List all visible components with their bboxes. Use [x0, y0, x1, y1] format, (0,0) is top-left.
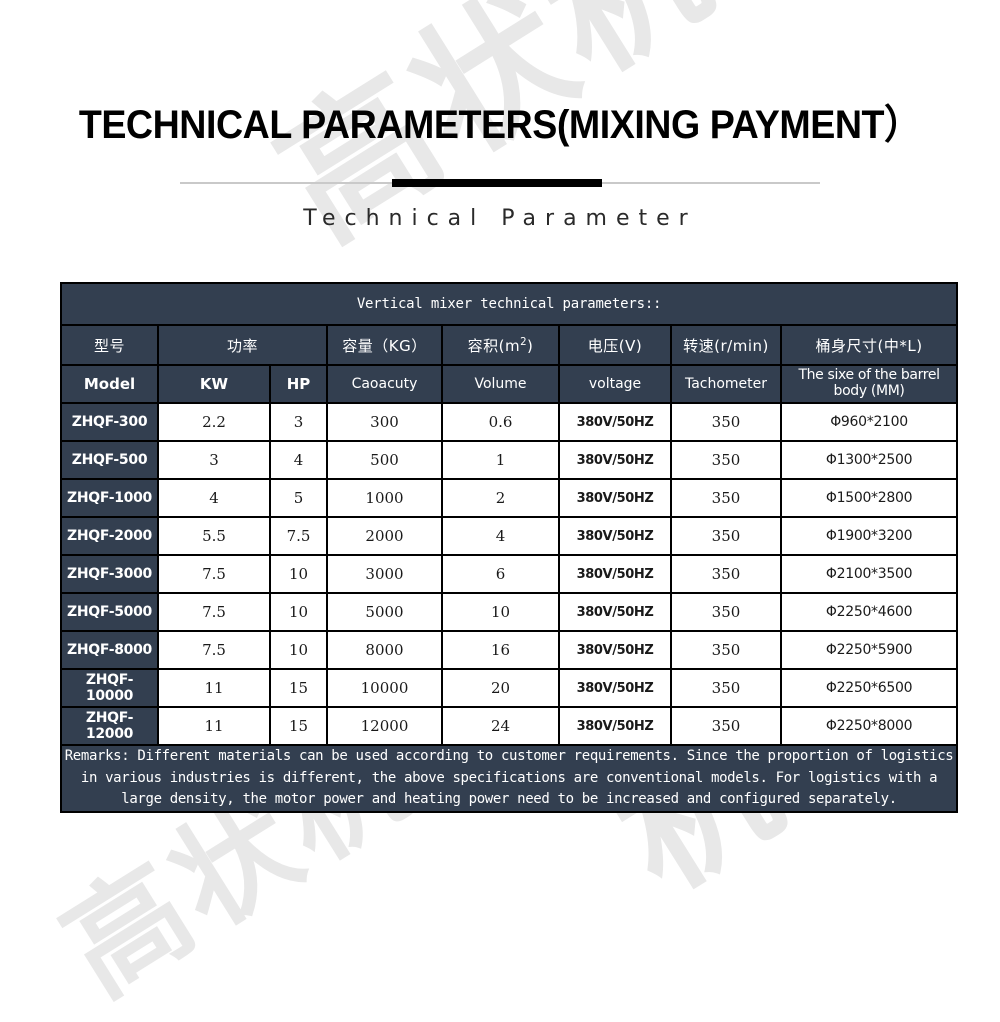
cell-tachometer: 350	[672, 404, 780, 440]
cell-capacity: 10000	[328, 670, 441, 706]
cell-model: ZHQF-5000	[62, 594, 157, 630]
col-header-model-cn: 型号	[62, 326, 157, 364]
cell-hp: 7.5	[271, 518, 326, 554]
cell-kw: 2.2	[159, 404, 269, 440]
table-caption-row: Vertical mixer technical parameters::	[62, 284, 956, 324]
cell-size: Φ2250*8000	[782, 708, 956, 744]
header-row-cn: 型号 功率 容量（KG） 容积(m2) 电压(V) 转速(r/min) 桶身尺寸…	[62, 326, 956, 364]
cell-volume: 24	[443, 708, 558, 744]
cell-tachometer: 350	[672, 442, 780, 478]
cell-hp: 15	[271, 708, 326, 744]
table-row: ZHQF-2000 5.5 7.5 2000 4 380V/50HZ 350 Φ…	[62, 518, 956, 554]
cell-tachometer: 350	[672, 708, 780, 744]
cell-size: Φ2250*6500	[782, 670, 956, 706]
cell-kw: 7.5	[159, 632, 269, 668]
col-header-capacity-en: Caoacuty	[328, 366, 441, 402]
col-header-tachometer-en: Tachometer	[672, 366, 780, 402]
table-remarks: Remarks: Different materials can be used…	[62, 746, 956, 811]
cell-voltage: 380V/50HZ	[560, 556, 670, 592]
table-row: ZHQF-5000 7.5 10 5000 10 380V/50HZ 350 Φ…	[62, 594, 956, 630]
cell-kw: 3	[159, 442, 269, 478]
table-row: ZHQF-3000 7.5 10 3000 6 380V/50HZ 350 Φ2…	[62, 556, 956, 592]
title-divider	[180, 178, 820, 188]
col-header-volume-cn: 容积(m2)	[443, 326, 558, 364]
cell-size: Φ1300*2500	[782, 442, 956, 478]
cell-kw: 5.5	[159, 518, 269, 554]
cell-hp: 3	[271, 404, 326, 440]
cell-volume: 4	[443, 518, 558, 554]
cell-size: Φ960*2100	[782, 404, 956, 440]
cell-capacity: 1000	[328, 480, 441, 516]
title-block: TECHNICAL PARAMETERS(MIXING PAYMENT） Tec…	[0, 0, 1000, 231]
cell-volume: 1	[443, 442, 558, 478]
cell-tachometer: 350	[672, 518, 780, 554]
cell-voltage: 380V/50HZ	[560, 708, 670, 744]
cell-model: ZHQF-10000	[62, 670, 157, 706]
cell-kw: 11	[159, 670, 269, 706]
cell-volume: 0.6	[443, 404, 558, 440]
cell-capacity: 8000	[328, 632, 441, 668]
page-title: TECHNICAL PARAMETERS(MIXING PAYMENT）	[30, 92, 970, 150]
cell-model: ZHQF-2000	[62, 518, 157, 554]
col-header-power-cn: 功率	[159, 326, 326, 364]
cell-size: Φ2100*3500	[782, 556, 956, 592]
cell-tachometer: 350	[672, 632, 780, 668]
col-header-voltage-cn: 电压(V)	[560, 326, 670, 364]
cell-size: Φ2250*5900	[782, 632, 956, 668]
cell-volume: 16	[443, 632, 558, 668]
divider-accent-bar	[392, 179, 602, 187]
cell-capacity: 5000	[328, 594, 441, 630]
cell-capacity: 300	[328, 404, 441, 440]
cell-kw: 11	[159, 708, 269, 744]
col-header-volume-en: Volume	[443, 366, 558, 402]
cell-volume: 20	[443, 670, 558, 706]
col-header-voltage-en: voltage	[560, 366, 670, 402]
cell-voltage: 380V/50HZ	[560, 404, 670, 440]
col-header-capacity-cn: 容量（KG）	[328, 326, 441, 364]
table-row: ZHQF-8000 7.5 10 8000 16 380V/50HZ 350 Φ…	[62, 632, 956, 668]
cell-capacity: 500	[328, 442, 441, 478]
cell-model: ZHQF-3000	[62, 556, 157, 592]
col-header-model-en: Model	[62, 366, 157, 402]
volume-unit-superscript: 2	[520, 337, 527, 348]
col-header-kw-en: KW	[159, 366, 269, 402]
cell-model: ZHQF-500	[62, 442, 157, 478]
cell-hp: 10	[271, 632, 326, 668]
cell-size: Φ1500*2800	[782, 480, 956, 516]
cell-model: ZHQF-12000	[62, 708, 157, 744]
table-caption: Vertical mixer technical parameters::	[62, 284, 956, 324]
volume-label-close: )	[527, 337, 533, 355]
col-header-size-en: The sixe of the barrel body (MM)	[782, 366, 956, 402]
table-row: ZHQF-10000 11 15 10000 20 380V/50HZ 350 …	[62, 670, 956, 706]
cell-model: ZHQF-8000	[62, 632, 157, 668]
spec-table-container: Vertical mixer technical parameters:: 型号…	[60, 282, 940, 813]
col-header-size-cn: 桶身尺寸(中*L)	[782, 326, 956, 364]
table-row: ZHQF-12000 11 15 12000 24 380V/50HZ 350 …	[62, 708, 956, 744]
cell-hp: 4	[271, 442, 326, 478]
cell-voltage: 380V/50HZ	[560, 518, 670, 554]
cell-model: ZHQF-300	[62, 404, 157, 440]
cell-voltage: 380V/50HZ	[560, 594, 670, 630]
cell-model: ZHQF-1000	[62, 480, 157, 516]
col-header-hp-en: HP	[271, 366, 326, 402]
cell-volume: 2	[443, 480, 558, 516]
table-row: ZHQF-500 3 4 500 1 380V/50HZ 350 Φ1300*2…	[62, 442, 956, 478]
cell-hp: 10	[271, 594, 326, 630]
table-remarks-row: Remarks: Different materials can be used…	[62, 746, 956, 811]
cell-kw: 7.5	[159, 556, 269, 592]
cell-capacity: 12000	[328, 708, 441, 744]
cell-tachometer: 350	[672, 480, 780, 516]
col-header-tachometer-cn: 转速(r/min)	[672, 326, 780, 364]
cell-size: Φ1900*3200	[782, 518, 956, 554]
header-row-en: Model KW HP Caoacuty Volume voltage Tach…	[62, 366, 956, 402]
cell-volume: 10	[443, 594, 558, 630]
cell-kw: 4	[159, 480, 269, 516]
cell-voltage: 380V/50HZ	[560, 480, 670, 516]
volume-label-text: 容积(m	[468, 337, 520, 355]
cell-size: Φ2250*4600	[782, 594, 956, 630]
cell-voltage: 380V/50HZ	[560, 632, 670, 668]
cell-volume: 6	[443, 556, 558, 592]
table-row: ZHQF-300 2.2 3 300 0.6 380V/50HZ 350 Φ96…	[62, 404, 956, 440]
cell-kw: 7.5	[159, 594, 269, 630]
cell-hp: 15	[271, 670, 326, 706]
cell-voltage: 380V/50HZ	[560, 442, 670, 478]
cell-tachometer: 350	[672, 594, 780, 630]
table-row: ZHQF-1000 4 5 1000 2 380V/50HZ 350 Φ1500…	[62, 480, 956, 516]
cell-capacity: 3000	[328, 556, 441, 592]
cell-tachometer: 350	[672, 556, 780, 592]
cell-tachometer: 350	[672, 670, 780, 706]
spec-table: Vertical mixer technical parameters:: 型号…	[60, 282, 958, 813]
cell-capacity: 2000	[328, 518, 441, 554]
cell-hp: 10	[271, 556, 326, 592]
cell-hp: 5	[271, 480, 326, 516]
page-subtitle: Technical Parameter	[0, 206, 1000, 231]
cell-voltage: 380V/50HZ	[560, 670, 670, 706]
